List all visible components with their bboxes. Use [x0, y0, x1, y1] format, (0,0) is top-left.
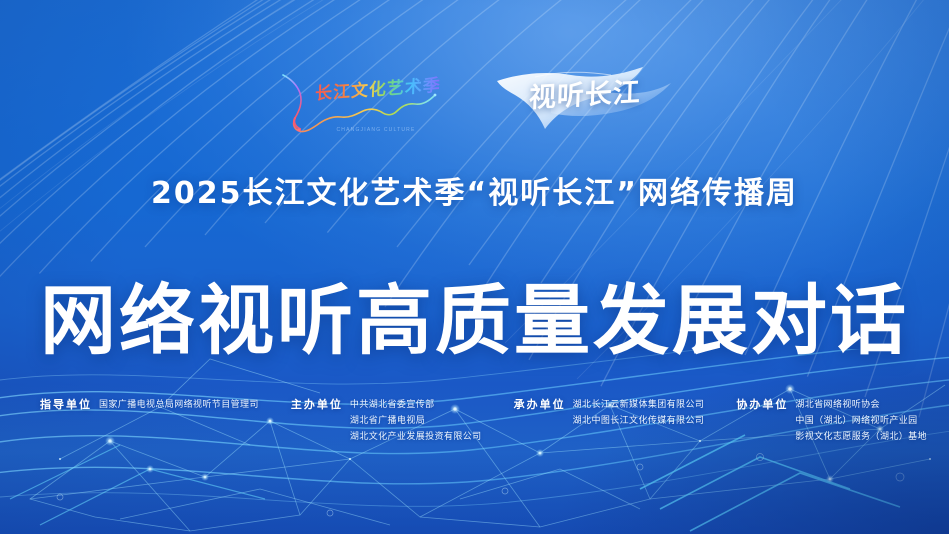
credit-label: 承办单位	[514, 398, 566, 412]
changjiang-culture-art-season-logo: 长江文化艺术季 CHANGJIANG CULTURE	[275, 61, 447, 141]
event-subtitle: 2025长江文化艺术季“视听长江”网络传播周	[0, 168, 949, 212]
credit-values: 湖北省网络视听协会 中国（湖北）网络视听产业园 影视文化志愿服务（湖北）基地	[795, 398, 927, 444]
credit-values: 国家广播电视总局网络视听节目管理司	[99, 398, 259, 412]
credit-value: 中共湖北省委宣传部	[350, 398, 482, 412]
credit-value: 湖北长江云新媒体集团有限公司	[573, 398, 705, 412]
credit-block-guidance: 指导单位 国家广播电视总局网络视听节目管理司	[40, 398, 259, 412]
credit-block-host: 主办单位 中共湖北省委宣传部 湖北省广播电视局 湖北文化产业发展投资有限公司	[291, 398, 482, 444]
poster-content: 长江文化艺术季 CHANGJIANG CULTURE	[0, 0, 949, 534]
logo-row: 长江文化艺术季 CHANGJIANG CULTURE	[0, 60, 949, 142]
credit-value: 中国（湖北）网络视听产业园	[795, 414, 927, 428]
shiting-changjiang-logo: 视听长江	[493, 61, 675, 141]
credit-value: 国家广播电视总局网络视听节目管理司	[99, 398, 259, 412]
organizer-credits: 指导单位 国家广播电视总局网络视听节目管理司 主办单位 中共湖北省委宣传部 湖北…	[40, 398, 927, 444]
credit-label: 主办单位	[291, 398, 343, 412]
credit-value: 湖北文化产业发展投资有限公司	[350, 430, 482, 444]
credit-block-coorganizer: 协办单位 湖北省网络视听协会 中国（湖北）网络视听产业园 影视文化志愿服务（湖北…	[736, 398, 927, 444]
page-title: 网络视听高质量发展对话	[0, 283, 949, 359]
poster-canvas: 长江文化艺术季 CHANGJIANG CULTURE	[0, 0, 949, 534]
credit-value: 影视文化志愿服务（湖北）基地	[795, 430, 927, 444]
logo-left-sub-text: CHANGJIANG CULTURE	[337, 127, 416, 133]
credit-value: 湖北省广播电视局	[350, 414, 482, 428]
credit-values: 中共湖北省委宣传部 湖北省广播电视局 湖北文化产业发展投资有限公司	[350, 398, 482, 444]
logo-right-chinese-text: 视听长江	[528, 70, 641, 115]
credit-label: 协办单位	[736, 398, 788, 412]
credit-label: 指导单位	[40, 398, 92, 412]
credit-value: 湖北省网络视听协会	[795, 398, 927, 412]
credit-value: 湖北中图长江文化传媒有限公司	[573, 414, 705, 428]
credit-block-organizer: 承办单位 湖北长江云新媒体集团有限公司 湖北中图长江文化传媒有限公司	[514, 398, 705, 428]
credit-values: 湖北长江云新媒体集团有限公司 湖北中图长江文化传媒有限公司	[573, 398, 705, 428]
